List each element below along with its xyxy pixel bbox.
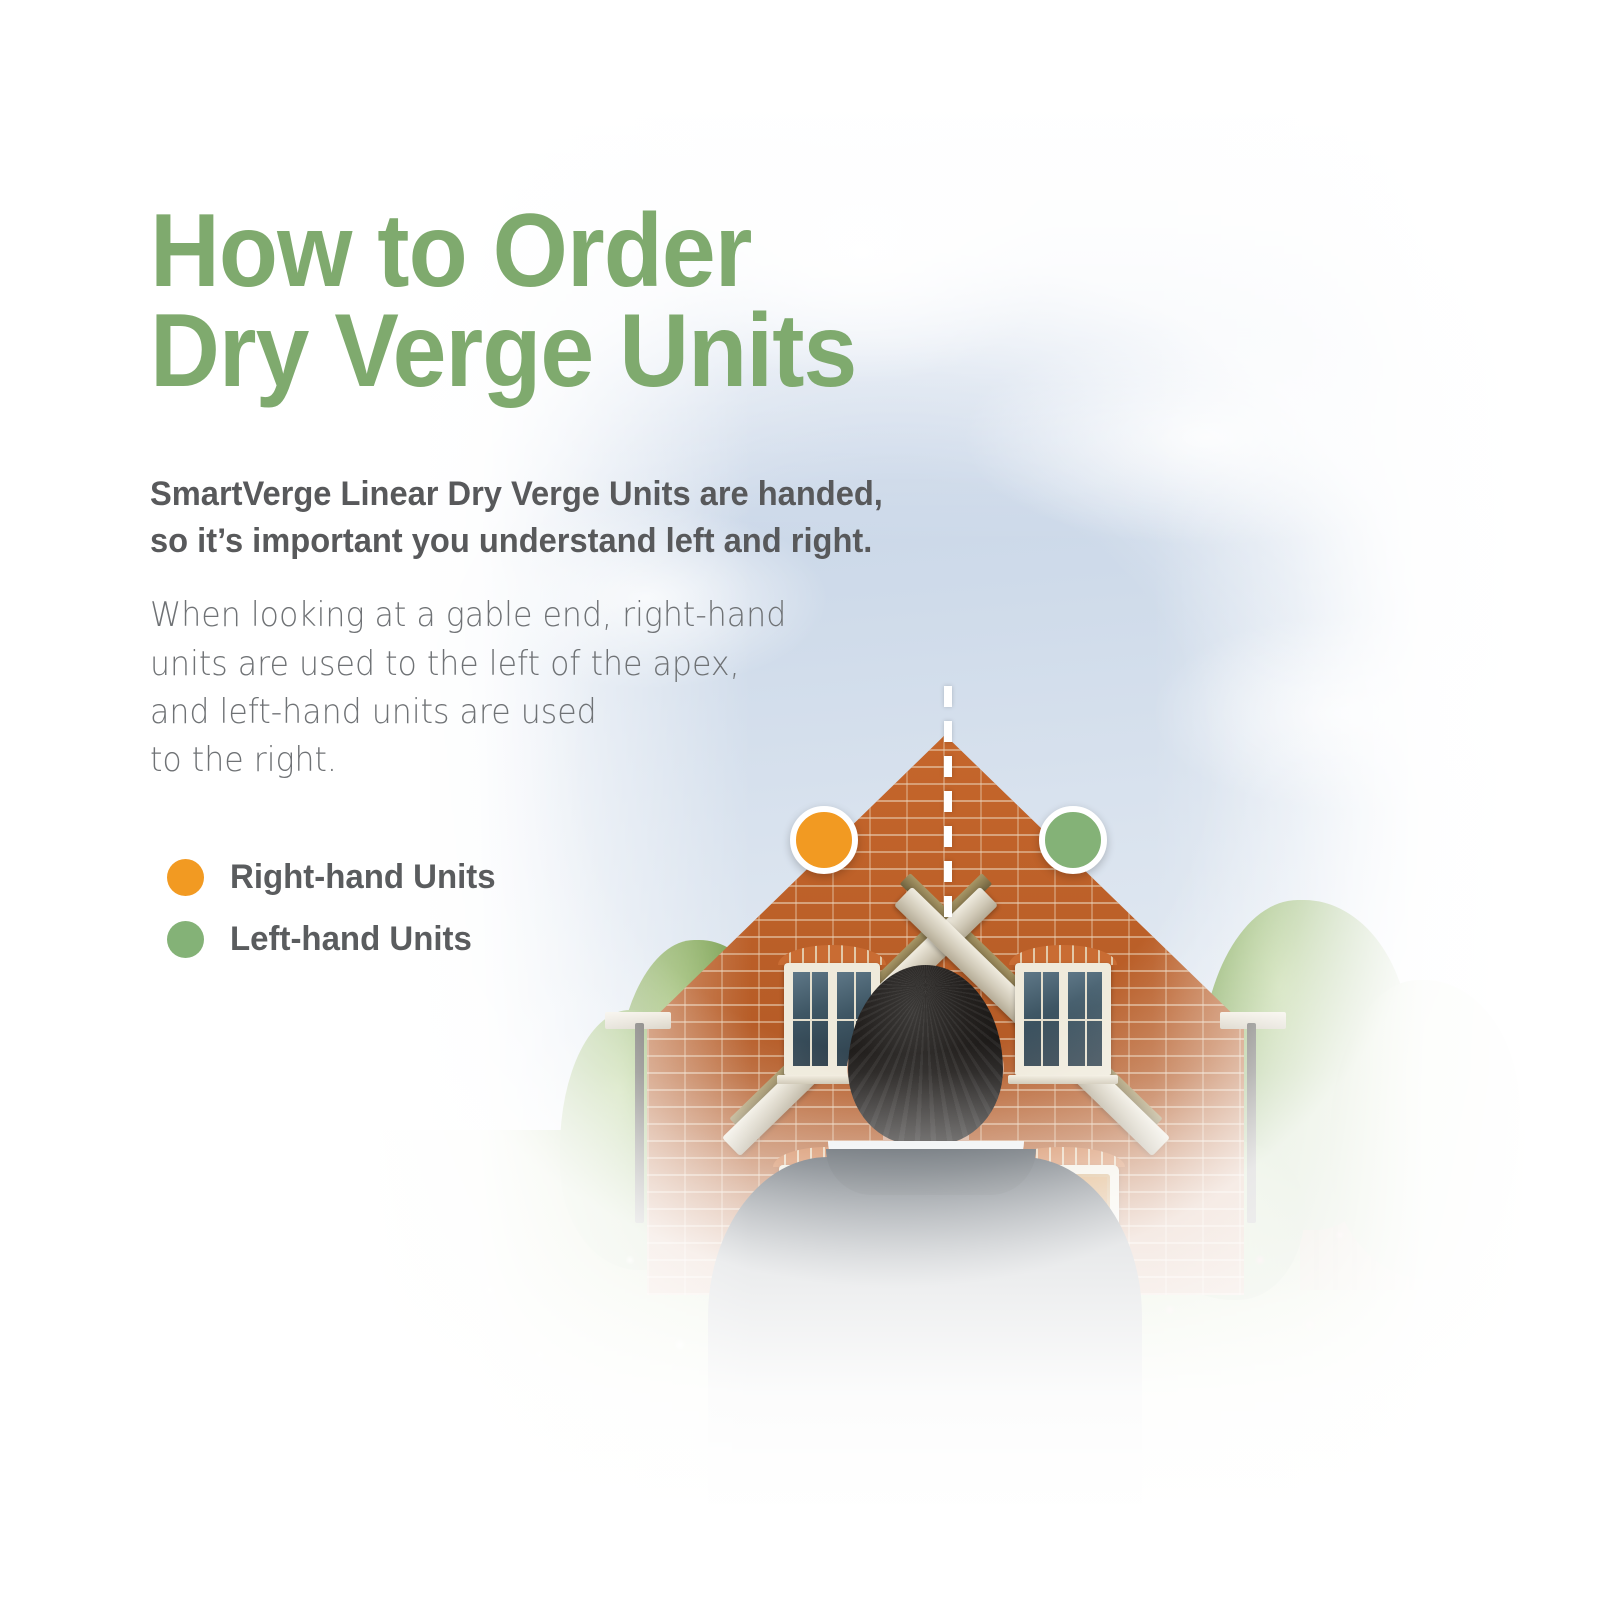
subheading: SmartVerge Linear Dry Verge Units are ha… xyxy=(150,471,1110,564)
copy-block: How to Order Dry Verge Units SmartVerge … xyxy=(150,0,1150,971)
legend-label-left-hand: Left-hand Units xyxy=(230,920,472,959)
infographic-canvas: How to Order Dry Verge Units SmartVerge … xyxy=(0,0,1600,1600)
body-line-1: When looking at a gable end, right-hand xyxy=(150,591,1080,639)
page-title: How to Order Dry Verge Units xyxy=(150,70,1080,402)
head-rear-view xyxy=(848,965,1003,1145)
downpipe-left xyxy=(635,1023,644,1223)
title-line-2: Dry Verge Units xyxy=(150,302,1080,402)
legend-item-left-hand: Left-hand Units xyxy=(150,909,1150,971)
body-line-2: units are used to the left of the apex, xyxy=(150,640,1080,688)
legend-dot-green-icon xyxy=(167,921,204,958)
legend-item-right-hand: Right-hand Units xyxy=(150,847,1150,909)
person-viewing-gable xyxy=(700,965,1150,1600)
legend: Right-hand Units Left-hand Units xyxy=(150,847,1150,971)
legend-dot-orange-icon xyxy=(167,859,204,896)
subhead-line-1: SmartVerge Linear Dry Verge Units are ha… xyxy=(150,471,1110,518)
title-line-1: How to Order xyxy=(150,202,1080,302)
subhead-line-2: so it’s important you understand left an… xyxy=(150,518,1110,565)
legend-label-right-hand: Right-hand Units xyxy=(230,858,496,897)
body-line-3: and left-hand units are used xyxy=(150,688,1080,736)
downpipe-right xyxy=(1247,1023,1256,1223)
body-paragraph: When looking at a gable end, right-hand … xyxy=(150,591,1080,784)
body-line-4: to the right. xyxy=(150,736,1080,784)
torso-shirt xyxy=(708,1157,1142,1600)
